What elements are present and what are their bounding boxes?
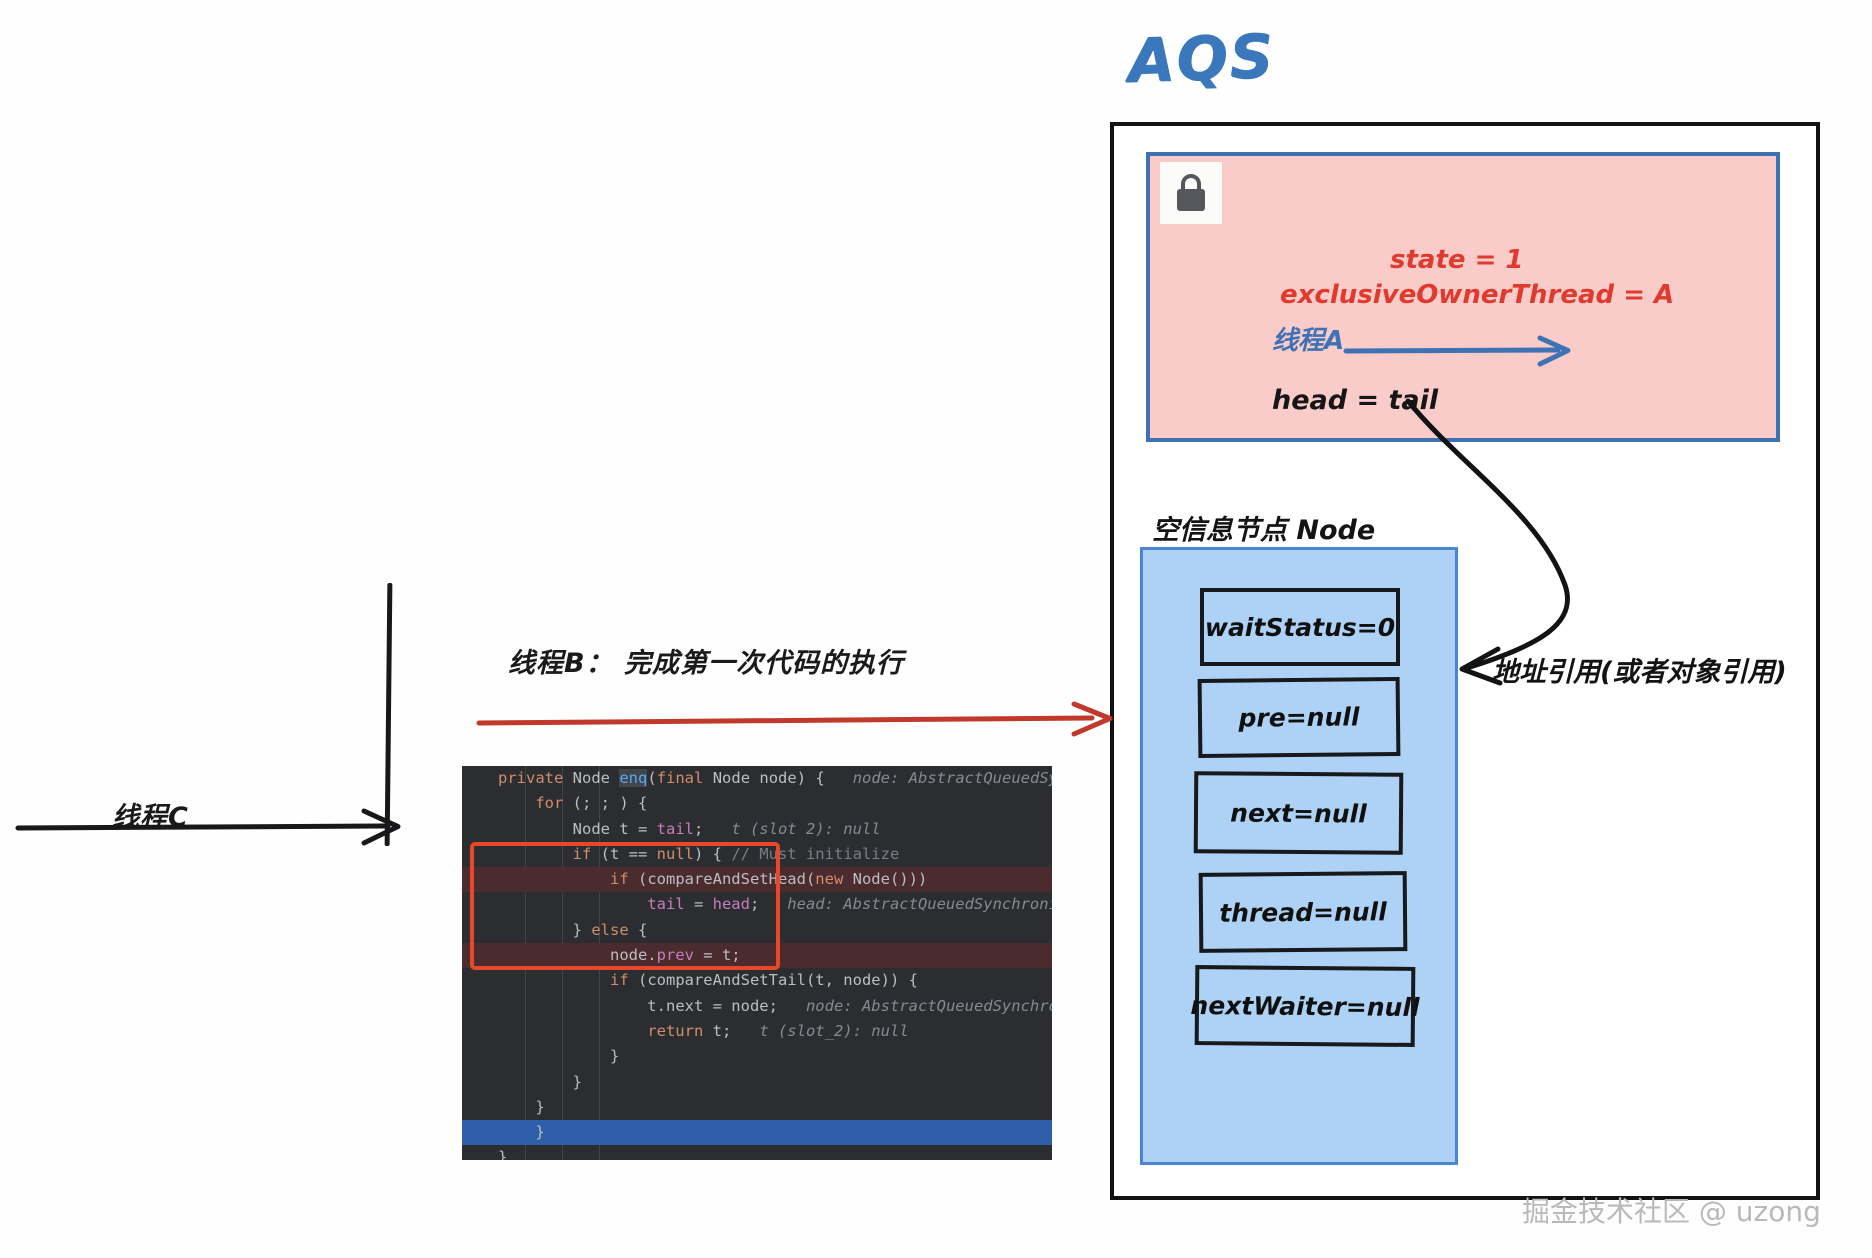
lock-closed-icon — [1160, 162, 1222, 224]
node-caption: 空信息节点 Node — [1152, 508, 1375, 547]
node-field-waitstatus: waitStatus=0 — [1200, 588, 1400, 666]
code-line: } — [462, 1044, 1052, 1069]
code-line: t.next = node; node: AbstractQueuedSynch… — [462, 994, 1052, 1019]
thread-a-arrow-icon — [1344, 336, 1584, 370]
code-line: } else { — [462, 918, 1052, 943]
node-field-pre: pre=null — [1198, 677, 1401, 758]
code-line: Node t = tail; t (slot 2): null — [462, 817, 1052, 842]
thread-b-annotation: 线程B： 完成第一次代码的执行 — [508, 641, 904, 680]
code-line: } — [462, 1070, 1052, 1095]
code-line: node.prev = t; — [462, 943, 1052, 968]
code-line: } — [462, 1095, 1052, 1120]
thread-c-arrow-icon — [16, 805, 416, 849]
code-line-selected: } — [462, 1120, 1052, 1145]
code-line: if (t == null) { // Must initialize — [462, 842, 1052, 867]
state-value-text: state = 1 — [1390, 245, 1524, 275]
code-line: if (compareAndSetTail(t, node)) { — [462, 968, 1052, 993]
address-reference-label: 地址引用(或者对象引用) — [1492, 650, 1787, 689]
node-field-next: next=null — [1194, 771, 1404, 854]
thread-a-label: 线程A — [1272, 320, 1344, 357]
code-line: tail = head; head: AbstractQueuedSynchro… — [462, 892, 1052, 917]
code-line: if (compareAndSetHead(new Node())) — [462, 867, 1052, 892]
code-line: } — [462, 1145, 1052, 1160]
watermark: 掘金技术社区 @ uzong — [1522, 1190, 1821, 1230]
node-field-nextwaiter: nextWaiter=null — [1195, 965, 1416, 1047]
code-line: private Node enq(final Node node) { node… — [462, 766, 1052, 791]
code-line: return t; t (slot_2): null — [462, 1019, 1052, 1044]
exclusive-owner-thread-text: exclusiveOwnerThread = A — [1280, 280, 1674, 310]
node-field-thread: thread=null — [1199, 871, 1408, 953]
code-line: for (; ; ) { — [462, 791, 1052, 816]
code-editor-panel[interactable]: private Node enq(final Node node) { node… — [462, 766, 1052, 1160]
thread-b-arrow-icon — [476, 700, 1126, 744]
page-title: AQS — [1127, 21, 1276, 96]
